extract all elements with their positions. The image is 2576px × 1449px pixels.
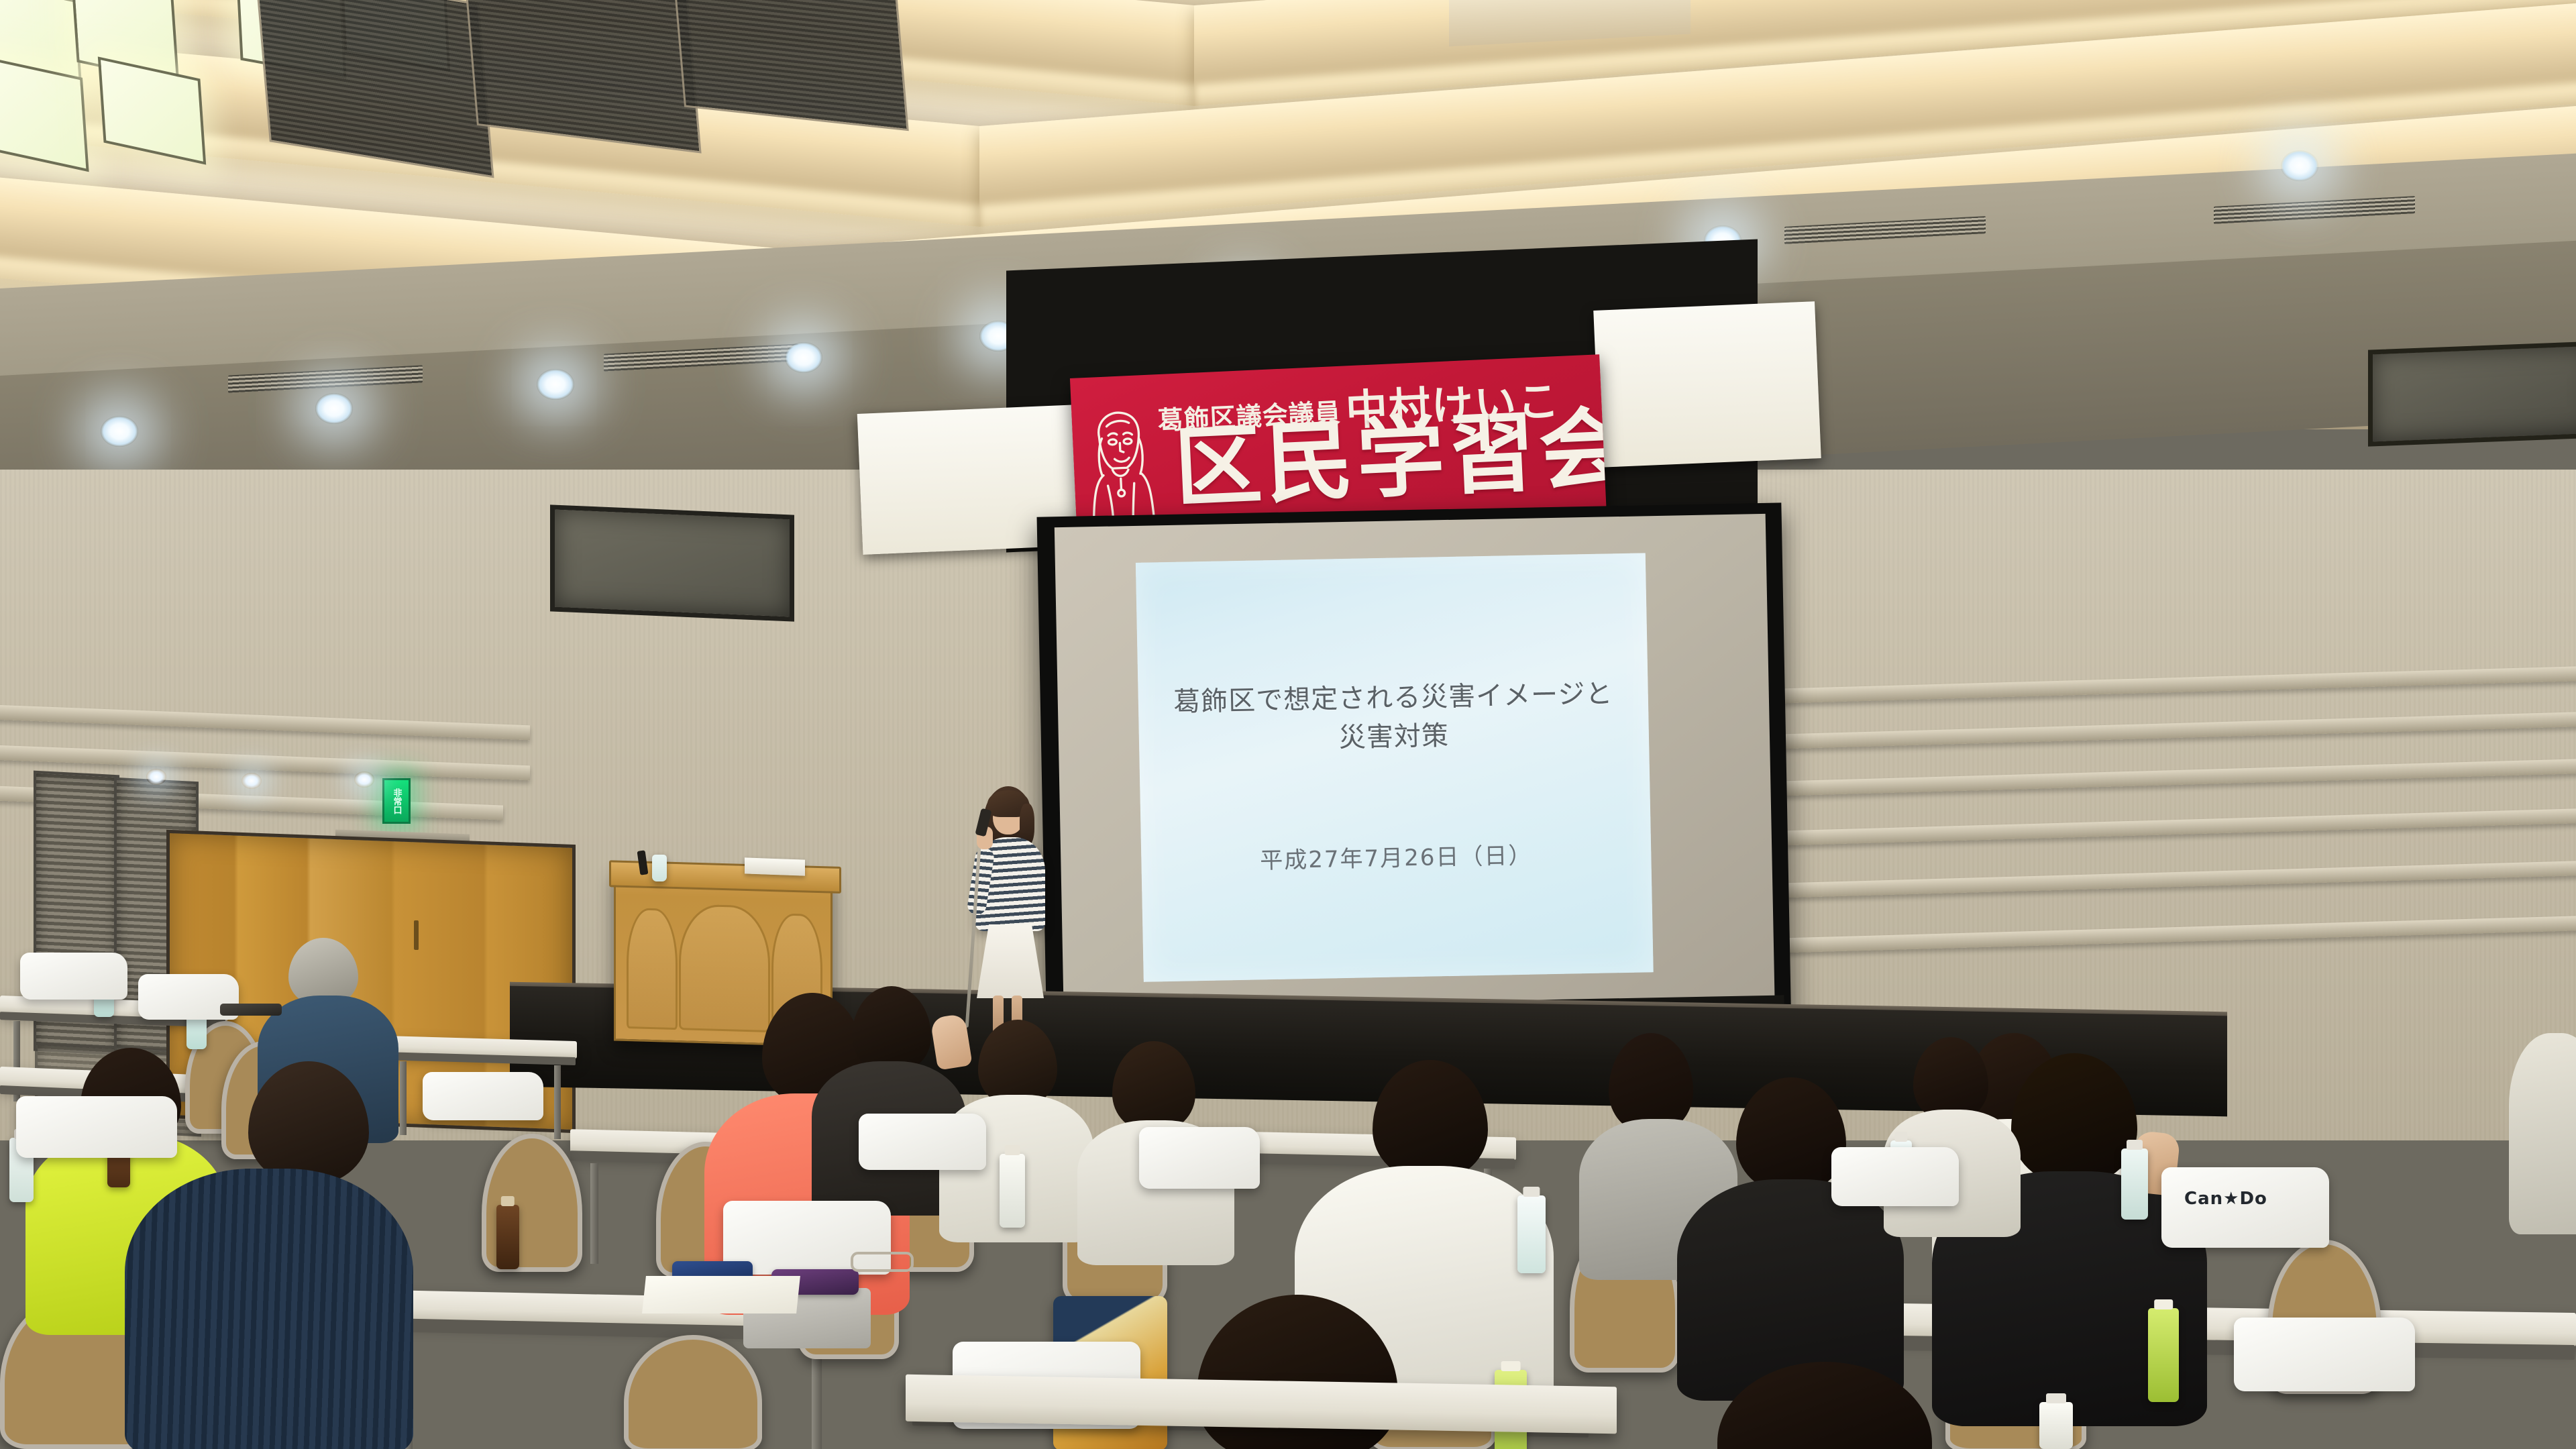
plastic-bag-3[interactable] xyxy=(16,1096,177,1158)
audience-person-dark-top-2 xyxy=(1677,1077,1898,1393)
green-tea-bottle[interactable] xyxy=(2148,1308,2179,1402)
projection-screen: 葛飾区で想定される災害イメージと 災害対策 平成27年7月26日（日） xyxy=(1037,502,1792,1046)
audience-person-foreground-left xyxy=(1717,1362,1932,1449)
ceiling-spotlight-2 xyxy=(315,393,353,424)
banner-main-title: 区民学習会 xyxy=(1173,404,1607,512)
slide-title: 葛飾区で想定される災害イメージと 災害対策 xyxy=(1138,674,1649,761)
eyeglasses[interactable] xyxy=(851,1252,914,1272)
plastic-bag-4[interactable] xyxy=(423,1072,543,1120)
plastic-bag-9[interactable] xyxy=(2234,1318,2415,1391)
wall-downlight-1 xyxy=(146,769,166,785)
water-bottle-4[interactable] xyxy=(1000,1154,1025,1228)
woman-portrait-icon xyxy=(1081,404,1159,527)
podium-paper xyxy=(745,857,805,875)
plastic-bag-1[interactable] xyxy=(20,953,127,1000)
plastic-bag-5[interactable] xyxy=(859,1114,986,1170)
wall-downlight-2 xyxy=(241,773,262,789)
speaker-skirt xyxy=(977,924,1044,998)
ceiling-spotlight-1 xyxy=(101,416,138,447)
ceiling-spotlight-8 xyxy=(2281,150,2318,181)
partition-door-handle[interactable] xyxy=(414,920,419,950)
plastic-bag-cando[interactable]: Can★Do xyxy=(2161,1167,2329,1248)
screen-surface: 葛飾区で想定される災害イメージと 災害対策 平成27年7月26日（日） xyxy=(1055,514,1775,1010)
paper-sheet-1[interactable] xyxy=(642,1276,800,1313)
exit-sign-label: 非常口 xyxy=(390,788,403,814)
presentation-slide: 葛飾区で想定される災害イメージと 災害対策 平成27年7月26日（日） xyxy=(1136,553,1654,981)
podium-water-bottle xyxy=(652,855,667,881)
ceiling-spotlight-3 xyxy=(537,369,574,400)
banner-side-panel-right xyxy=(1593,301,1821,468)
speaker-person xyxy=(961,786,1055,1041)
tea-bottle-2[interactable] xyxy=(496,1205,519,1269)
wall-dark-panel-right xyxy=(2368,341,2576,446)
slide-date: 平成27年7月26日（日） xyxy=(1141,835,1652,877)
water-bottle-5[interactable] xyxy=(1517,1195,1546,1273)
podium-panel-left xyxy=(627,908,678,1030)
control-booth-window xyxy=(550,504,794,621)
audience-person-bottom-right xyxy=(2509,1033,2576,1234)
water-bottle-8[interactable] xyxy=(2039,1402,2073,1449)
plastic-bag-6[interactable] xyxy=(1139,1127,1260,1189)
water-bottle-6[interactable] xyxy=(2121,1148,2148,1220)
emergency-exit-sign: 非常口 xyxy=(382,778,411,824)
chair-12[interactable] xyxy=(624,1335,762,1449)
table-leg-4 xyxy=(554,1065,561,1139)
cando-bag-brand: Can★Do xyxy=(2184,1189,2267,1209)
remote-control[interactable] xyxy=(220,1004,282,1016)
photo-scene: 葛飾区議会議員 中村けいこ 区民学習会 葛飾区で想定される災害イメージと 災害対… xyxy=(0,0,2576,1449)
wall-downlight-3 xyxy=(354,771,374,788)
ceiling-spotlight-4 xyxy=(785,342,822,373)
table-leg-5 xyxy=(590,1163,598,1264)
plastic-bag-8[interactable] xyxy=(1831,1147,1959,1206)
